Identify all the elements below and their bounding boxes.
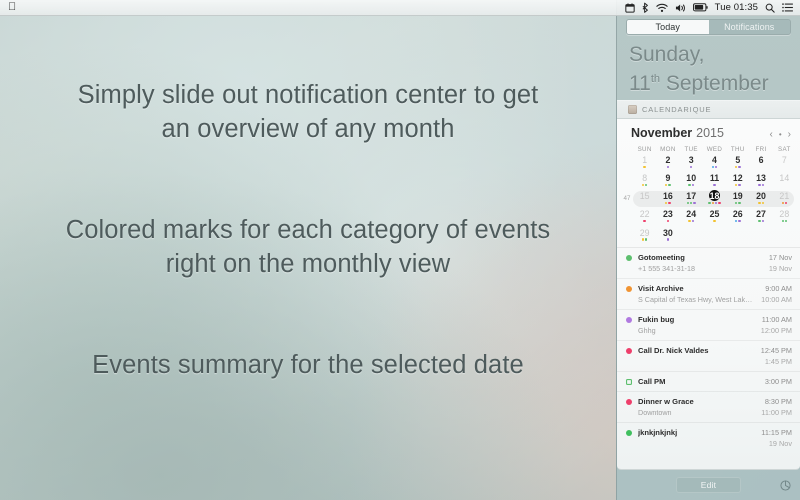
event-dot-green bbox=[645, 238, 647, 240]
event-dot-green bbox=[782, 220, 784, 222]
calendar-day-7[interactable]: 7 bbox=[773, 154, 796, 170]
event-dot-green bbox=[785, 220, 787, 222]
event-title: Call Dr. Nick Valdes bbox=[638, 346, 755, 355]
day-number: 3 bbox=[686, 154, 697, 165]
calendar-day-25[interactable]: 25 bbox=[703, 209, 726, 225]
event-dot-purple bbox=[667, 166, 669, 168]
calendar-day-empty bbox=[749, 227, 772, 243]
event-dot-purple bbox=[762, 184, 764, 186]
event-dot-yellow bbox=[758, 202, 760, 204]
event-dot-orange bbox=[712, 202, 714, 204]
event-end-time: 19 Nov bbox=[769, 264, 792, 273]
day-number: 21 bbox=[779, 190, 790, 201]
calendar-weekday-header: SUNMONTUEWEDTHUFRISAT bbox=[617, 143, 800, 154]
promo-line-3: Events summary for the selected date bbox=[0, 348, 616, 382]
day-number bbox=[779, 227, 790, 238]
event-title: Call PM bbox=[638, 377, 759, 386]
day-event-dots bbox=[642, 184, 648, 188]
reminder-checkbox-icon[interactable] bbox=[626, 379, 632, 385]
day-number: 10 bbox=[686, 172, 697, 183]
event-row[interactable]: Visit ArchiveS Capital of Texas Hwy, Wes… bbox=[617, 278, 800, 309]
event-dot-pink bbox=[668, 202, 670, 204]
day-event-dots bbox=[688, 220, 694, 224]
day-number bbox=[686, 227, 697, 238]
event-row[interactable]: jknkjnkjnkj11:15 PM19 Nov bbox=[617, 422, 800, 453]
event-dot-purple bbox=[693, 202, 695, 204]
day-number: 25 bbox=[709, 209, 720, 220]
day-event-dots bbox=[643, 166, 645, 170]
event-start-time: 17 Nov bbox=[769, 253, 792, 262]
day-number: 20 bbox=[756, 190, 767, 201]
event-info: Call Dr. Nick Valdes bbox=[638, 346, 755, 355]
calendar-year-label: 2015 bbox=[696, 126, 724, 140]
event-dot-yellow bbox=[665, 184, 667, 186]
event-end-time: 10:00 AM bbox=[761, 295, 792, 304]
notification-center-panel: Today Notifications Sunday, 11th Septemb… bbox=[616, 0, 800, 500]
day-number: 18 bbox=[709, 190, 720, 201]
day-number: 5 bbox=[732, 154, 743, 165]
calendar-day-5[interactable]: 5 bbox=[726, 154, 749, 170]
event-title: Visit Archive bbox=[638, 284, 755, 293]
day-number: 11 bbox=[709, 172, 720, 183]
calendar-day-1[interactable]: 1 bbox=[633, 154, 656, 170]
day-event-dots bbox=[667, 166, 669, 170]
day-number: 14 bbox=[779, 172, 790, 183]
event-info: Dinner w GraceDowntown bbox=[638, 397, 755, 417]
event-dot-green bbox=[735, 202, 737, 204]
event-dot-yellow bbox=[735, 166, 737, 168]
calendar-day-28[interactable]: 28 bbox=[773, 209, 796, 225]
event-end-time: 1:45 PM bbox=[761, 357, 792, 366]
day-event-dots bbox=[782, 220, 788, 224]
day-number: 8 bbox=[639, 172, 650, 183]
edit-button[interactable]: Edit bbox=[676, 477, 741, 493]
calendar-icon[interactable] bbox=[625, 3, 635, 13]
promo-line-2: Colored marks for each category of event… bbox=[0, 213, 616, 281]
macos-menu-bar:  Tue 01:35 bbox=[0, 0, 800, 16]
event-dot-yellow bbox=[713, 220, 715, 222]
menu-bar-status-items: Tue 01:35 bbox=[625, 2, 800, 13]
day-number: 15 bbox=[639, 190, 650, 201]
day-number: 7 bbox=[779, 154, 790, 165]
day-event-dots bbox=[713, 184, 715, 188]
calendar-nav-controls: ‹ • › bbox=[770, 130, 792, 140]
event-times: 3:00 PM bbox=[765, 377, 792, 386]
day-event-dots bbox=[708, 202, 720, 206]
day-event-dots bbox=[688, 184, 694, 188]
battery-icon[interactable] bbox=[693, 3, 708, 12]
day-number: 16 bbox=[662, 190, 673, 201]
event-dot-purple bbox=[715, 166, 717, 168]
day-event-dots bbox=[758, 184, 764, 188]
calendar-day-9[interactable]: 9 bbox=[656, 172, 679, 188]
calendar-day-17[interactable]: 17 bbox=[680, 190, 703, 206]
event-color-dot bbox=[626, 255, 632, 261]
event-times: 11:15 PM19 Nov bbox=[761, 428, 792, 448]
calendar-day-19[interactable]: 19 bbox=[726, 190, 749, 206]
day-number: 27 bbox=[756, 209, 767, 220]
event-dot-yellow bbox=[642, 238, 644, 240]
calendar-day-2[interactable]: 2 bbox=[656, 154, 679, 170]
calendar-day-6[interactable]: 6 bbox=[749, 154, 772, 170]
event-dot-yellow bbox=[688, 220, 690, 222]
day-number: 29 bbox=[639, 227, 650, 238]
tab-notifications[interactable]: Notifications bbox=[709, 20, 791, 34]
calendar-day-12[interactable]: 12 bbox=[726, 172, 749, 188]
event-end-time: 12:00 PM bbox=[761, 326, 792, 335]
event-end-time: 19 Nov bbox=[761, 439, 792, 448]
calendarique-widget: November 2015 ‹ • › SUNMONTUEWEDTHUFRISA… bbox=[617, 119, 800, 470]
event-color-dot bbox=[626, 317, 632, 323]
calendar-day-4[interactable]: 4 bbox=[703, 154, 726, 170]
widget-header: CALENDARIQUE bbox=[617, 100, 800, 119]
week-number bbox=[621, 227, 633, 232]
event-color-dot bbox=[626, 399, 632, 405]
weekday-header-wed: WED bbox=[703, 146, 726, 153]
event-dot-yellow bbox=[762, 202, 764, 204]
event-dot-yellow bbox=[735, 184, 737, 186]
event-start-time: 9:00 AM bbox=[761, 284, 792, 293]
widget-app-name: CALENDARIQUE bbox=[642, 105, 711, 114]
today-date-line: 11th September bbox=[629, 67, 800, 96]
event-dot-purple bbox=[667, 238, 669, 240]
promo-line-3a: Events summary for the selected date bbox=[0, 348, 616, 382]
event-info: Visit ArchiveS Capital of Texas Hwy, Wes… bbox=[638, 284, 755, 304]
day-event-dots bbox=[735, 202, 741, 206]
promo-line-1b: an overview of any month bbox=[0, 112, 616, 146]
week-number: 47 bbox=[621, 190, 633, 202]
calendar-week-row: 891011121314 bbox=[621, 172, 796, 190]
calendar-day-20[interactable]: 20 bbox=[749, 190, 772, 206]
event-dot-purple bbox=[738, 184, 740, 186]
calendar-day-empty bbox=[773, 227, 796, 243]
event-info: Call PM bbox=[638, 377, 759, 386]
event-dot-green bbox=[688, 184, 690, 186]
event-end-time: 11:00 PM bbox=[761, 408, 792, 417]
event-times: 12:45 PM1:45 PM bbox=[761, 346, 792, 366]
event-dot-purple bbox=[758, 184, 760, 186]
calendar-day-3[interactable]: 3 bbox=[680, 154, 703, 170]
next-month-button[interactable]: › bbox=[788, 130, 791, 140]
volume-icon[interactable] bbox=[675, 3, 686, 13]
calendar-day-27[interactable]: 27 bbox=[749, 209, 772, 225]
day-event-dots bbox=[665, 184, 671, 188]
event-times: 11:00 AM12:00 PM bbox=[761, 315, 792, 335]
weekday-header-fri: FRI bbox=[749, 146, 772, 153]
calendar-day-15[interactable]: 15 bbox=[633, 190, 656, 206]
notification-center-icon[interactable] bbox=[782, 3, 793, 12]
day-event-dots bbox=[665, 202, 671, 206]
day-event-dots bbox=[687, 202, 696, 206]
event-dot-purple bbox=[690, 166, 692, 168]
event-title: Fukin bug bbox=[638, 315, 755, 324]
event-color-dot bbox=[626, 348, 632, 354]
week-number bbox=[621, 209, 633, 214]
event-times: 17 Nov19 Nov bbox=[769, 253, 792, 273]
event-title: Dinner w Grace bbox=[638, 397, 755, 406]
day-event-dots bbox=[690, 166, 692, 170]
calendar-month-label: November bbox=[631, 126, 692, 140]
calendar-day-empty bbox=[726, 227, 749, 243]
gear-icon[interactable] bbox=[780, 480, 791, 491]
event-dot-blue bbox=[735, 220, 737, 222]
day-number: 30 bbox=[662, 227, 673, 238]
event-row[interactable]: Fukin bugGhhg11:00 AM12:00 PM bbox=[617, 309, 800, 340]
day-number: 24 bbox=[686, 209, 697, 220]
event-dot-pink bbox=[667, 220, 669, 222]
calendar-day-16[interactable]: 16 bbox=[656, 190, 679, 206]
event-dot-orange bbox=[782, 202, 784, 204]
week-number bbox=[621, 154, 633, 159]
day-number: 1 bbox=[639, 154, 650, 165]
calendar-week-row: 22232425262728 bbox=[621, 209, 796, 227]
event-row[interactable]: Call PM3:00 PM bbox=[617, 371, 800, 391]
day-number: 26 bbox=[732, 209, 743, 220]
event-dot-purple bbox=[738, 220, 740, 222]
day-event-dots bbox=[642, 238, 648, 242]
menu-bar-clock[interactable]: Tue 01:35 bbox=[715, 2, 758, 13]
event-row[interactable]: Gotomeeting+1 555 341-31-1817 Nov19 Nov bbox=[617, 247, 800, 278]
event-dot-blue bbox=[712, 166, 714, 168]
today-day-number: 11 bbox=[629, 72, 651, 95]
weeknum-header-spacer bbox=[621, 146, 633, 153]
day-number: 4 bbox=[709, 154, 720, 165]
event-subtitle: Downtown bbox=[638, 408, 755, 417]
event-dot-green bbox=[668, 184, 670, 186]
calendar-day-8[interactable]: 8 bbox=[633, 172, 656, 188]
event-dot-pink bbox=[785, 202, 787, 204]
day-event-dots bbox=[758, 220, 764, 224]
today-day-ordinal: th bbox=[651, 73, 660, 85]
promo-line-2a: Colored marks for each category of event… bbox=[0, 213, 616, 247]
event-color-dot bbox=[626, 286, 632, 292]
event-start-time: 11:00 AM bbox=[761, 315, 792, 324]
calendar-day-18[interactable]: 18 bbox=[703, 190, 726, 206]
calendar-day-11[interactable]: 11 bbox=[703, 172, 726, 188]
notification-center-segmented-control[interactable]: Today Notifications bbox=[626, 19, 791, 35]
event-dot-purple bbox=[738, 166, 740, 168]
bluetooth-icon[interactable] bbox=[642, 2, 649, 13]
promo-text-group: Simply slide out notification center to … bbox=[0, 16, 616, 500]
day-number: 2 bbox=[662, 154, 673, 165]
event-title: Gotomeeting bbox=[638, 253, 763, 262]
day-number: 17 bbox=[686, 190, 697, 201]
event-subtitle: +1 555 341-31-18 bbox=[638, 264, 763, 273]
event-dot-green bbox=[687, 202, 689, 204]
day-event-dots bbox=[713, 220, 715, 224]
day-event-dots bbox=[667, 238, 669, 242]
event-dot-green bbox=[738, 202, 740, 204]
event-row[interactable]: Dinner w GraceDowntown8:30 PM11:00 PM bbox=[617, 391, 800, 422]
weekday-header-thu: THU bbox=[726, 146, 749, 153]
calendar-day-26[interactable]: 26 bbox=[726, 209, 749, 225]
event-info: Fukin bugGhhg bbox=[638, 315, 755, 335]
event-info: jknkjnkjnkj bbox=[638, 428, 755, 437]
event-dot-green bbox=[708, 202, 710, 204]
day-number bbox=[732, 227, 743, 238]
search-icon[interactable] bbox=[765, 3, 775, 13]
event-dot-purple bbox=[715, 202, 717, 204]
menu-bar-left:  bbox=[0, 2, 16, 13]
day-event-dots bbox=[735, 220, 741, 224]
calendar-day-21[interactable]: 21 bbox=[773, 190, 796, 206]
weekday-header-mon: MON bbox=[656, 146, 679, 153]
promo-line-1a: Simply slide out notification center to … bbox=[0, 78, 616, 112]
calendar-day-empty bbox=[680, 227, 703, 243]
tab-today[interactable]: Today bbox=[627, 20, 709, 34]
apple-logo-icon[interactable]:  bbox=[8, 2, 16, 13]
event-dot-green bbox=[758, 220, 760, 222]
calendar-day-29[interactable]: 29 bbox=[633, 227, 656, 243]
event-dot-purple bbox=[692, 220, 694, 222]
event-dot-yellow bbox=[642, 184, 644, 186]
weekday-header-sat: SAT bbox=[773, 146, 796, 153]
event-dot-pink bbox=[718, 202, 720, 204]
event-subtitle: Ghhg bbox=[638, 326, 755, 335]
calendar-day-empty bbox=[703, 227, 726, 243]
day-number: 22 bbox=[639, 209, 650, 220]
calendar-day-23[interactable]: 23 bbox=[656, 209, 679, 225]
day-event-dots bbox=[667, 220, 669, 224]
calendar-day-30[interactable]: 30 bbox=[656, 227, 679, 243]
calendar-day-22[interactable]: 22 bbox=[633, 209, 656, 225]
day-number: 9 bbox=[662, 172, 673, 183]
calendar-day-13[interactable]: 13 bbox=[749, 172, 772, 188]
event-start-time: 12:45 PM bbox=[761, 346, 792, 355]
event-dot-green bbox=[690, 202, 692, 204]
calendar-week-row: 1234567 bbox=[621, 154, 796, 172]
event-times: 9:00 AM10:00 AM bbox=[761, 284, 792, 304]
day-number bbox=[709, 227, 720, 238]
event-dot-green bbox=[645, 184, 647, 186]
calendar-header: November 2015 ‹ • › bbox=[617, 119, 800, 143]
event-times: 8:30 PM11:00 PM bbox=[761, 397, 792, 417]
event-dot-pink bbox=[643, 220, 645, 222]
day-number bbox=[756, 227, 767, 238]
today-weekday: Sunday, bbox=[629, 43, 800, 67]
today-date-heading: Sunday, 11th September bbox=[617, 35, 800, 100]
day-event-dots bbox=[758, 202, 764, 206]
day-number: 6 bbox=[756, 154, 767, 165]
event-title: jknkjnkjnkj bbox=[638, 428, 755, 437]
calendar-day-14[interactable]: 14 bbox=[773, 172, 796, 188]
event-row[interactable]: Call Dr. Nick Valdes12:45 PM1:45 PM bbox=[617, 340, 800, 371]
weekday-header-sun: SUN bbox=[633, 146, 656, 153]
wifi-icon[interactable] bbox=[656, 3, 668, 13]
prev-month-button[interactable]: ‹ bbox=[770, 130, 773, 140]
event-start-time: 3:00 PM bbox=[765, 377, 792, 386]
event-info: Gotomeeting+1 555 341-31-18 bbox=[638, 253, 763, 273]
calendar-day-10[interactable]: 10 bbox=[680, 172, 703, 188]
day-number: 13 bbox=[756, 172, 767, 183]
day-number: 12 bbox=[732, 172, 743, 183]
calendar-grid: 1234567891011121314471516171819202122232… bbox=[617, 154, 800, 245]
event-subtitle: S Capital of Texas Hwy, West Lake Hill..… bbox=[638, 295, 755, 304]
event-dot-purple bbox=[713, 184, 715, 186]
calendar-week-row: 2930 bbox=[621, 227, 796, 245]
day-event-dots bbox=[735, 166, 741, 170]
day-number: 23 bbox=[662, 209, 673, 220]
day-event-dots bbox=[782, 202, 788, 206]
event-start-time: 11:15 PM bbox=[761, 428, 792, 437]
week-number bbox=[621, 172, 633, 177]
event-dot-yellow bbox=[643, 166, 645, 168]
today-button[interactable]: • bbox=[779, 130, 782, 140]
promo-line-2b: right on the monthly view bbox=[0, 247, 616, 281]
event-color-dot bbox=[626, 430, 632, 436]
calendarique-app-icon bbox=[628, 105, 637, 114]
day-event-dots bbox=[735, 184, 741, 188]
event-dot-purple bbox=[692, 184, 694, 186]
weekday-header-tue: TUE bbox=[680, 146, 703, 153]
calendar-day-24[interactable]: 24 bbox=[680, 209, 703, 225]
promo-line-1: Simply slide out notification center to … bbox=[0, 78, 616, 146]
day-event-dots bbox=[712, 166, 718, 170]
day-number: 28 bbox=[779, 209, 790, 220]
today-month-name: September bbox=[660, 72, 769, 95]
notification-center-footer: Edit bbox=[617, 470, 800, 500]
event-list: Gotomeeting+1 555 341-31-1817 Nov19 NovV… bbox=[617, 245, 800, 469]
day-number: 19 bbox=[732, 190, 743, 201]
day-event-dots bbox=[643, 220, 645, 224]
event-dot-purple bbox=[762, 220, 764, 222]
event-start-time: 8:30 PM bbox=[761, 397, 792, 406]
calendar-week-row: 4715161718192021 bbox=[621, 190, 796, 208]
event-dot-yellow bbox=[665, 202, 667, 204]
